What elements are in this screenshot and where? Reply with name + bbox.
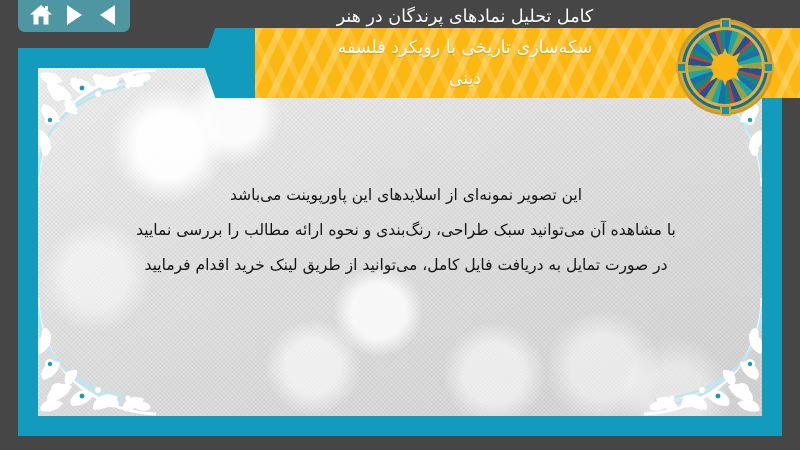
- navigation-bar: [18, 0, 130, 32]
- slide-body-line-3: در صورت تمایل به دریافت فایل کامل، می‌تو…: [58, 248, 754, 283]
- page-title-line-1: کامل تحلیل نمادهای پرندگان در هنر: [250, 2, 680, 33]
- page-title-line-2: سکه‌سازی تاریخی با رویکرد فلسفه: [250, 33, 680, 64]
- page-title-line-3: دینی: [250, 64, 680, 95]
- medallion-knob-top: [720, 18, 731, 29]
- home-button[interactable]: [28, 3, 54, 27]
- eight-point-star-icon: [706, 48, 744, 86]
- slide-body-line-1: این تصویر نمونه‌ای از اسلایدهای این پاور…: [58, 178, 754, 213]
- home-icon: [29, 4, 53, 26]
- triangle-left-icon: [100, 5, 115, 25]
- slide-body-text: این تصویر نمونه‌ای از اسلایدهای این پاور…: [58, 178, 754, 283]
- back-button[interactable]: [94, 3, 120, 27]
- islamic-mandala-medallion: [679, 21, 771, 113]
- page-title: کامل تحلیل نمادهای پرندگان در هنر سکه‌سا…: [250, 2, 680, 95]
- medallion-knob-bottom: [720, 105, 731, 116]
- slide-frame: این تصویر نمونه‌ای از اسلایدهای این پاور…: [18, 48, 782, 436]
- forward-button[interactable]: [61, 3, 87, 27]
- triangle-right-icon: [67, 5, 82, 25]
- medallion-knob-left: [676, 62, 687, 73]
- slide-body-line-2: با مشاهده آن می‌توانید سبک طراحی، رنگ‌بن…: [58, 213, 754, 248]
- medallion-knob-right: [763, 62, 774, 73]
